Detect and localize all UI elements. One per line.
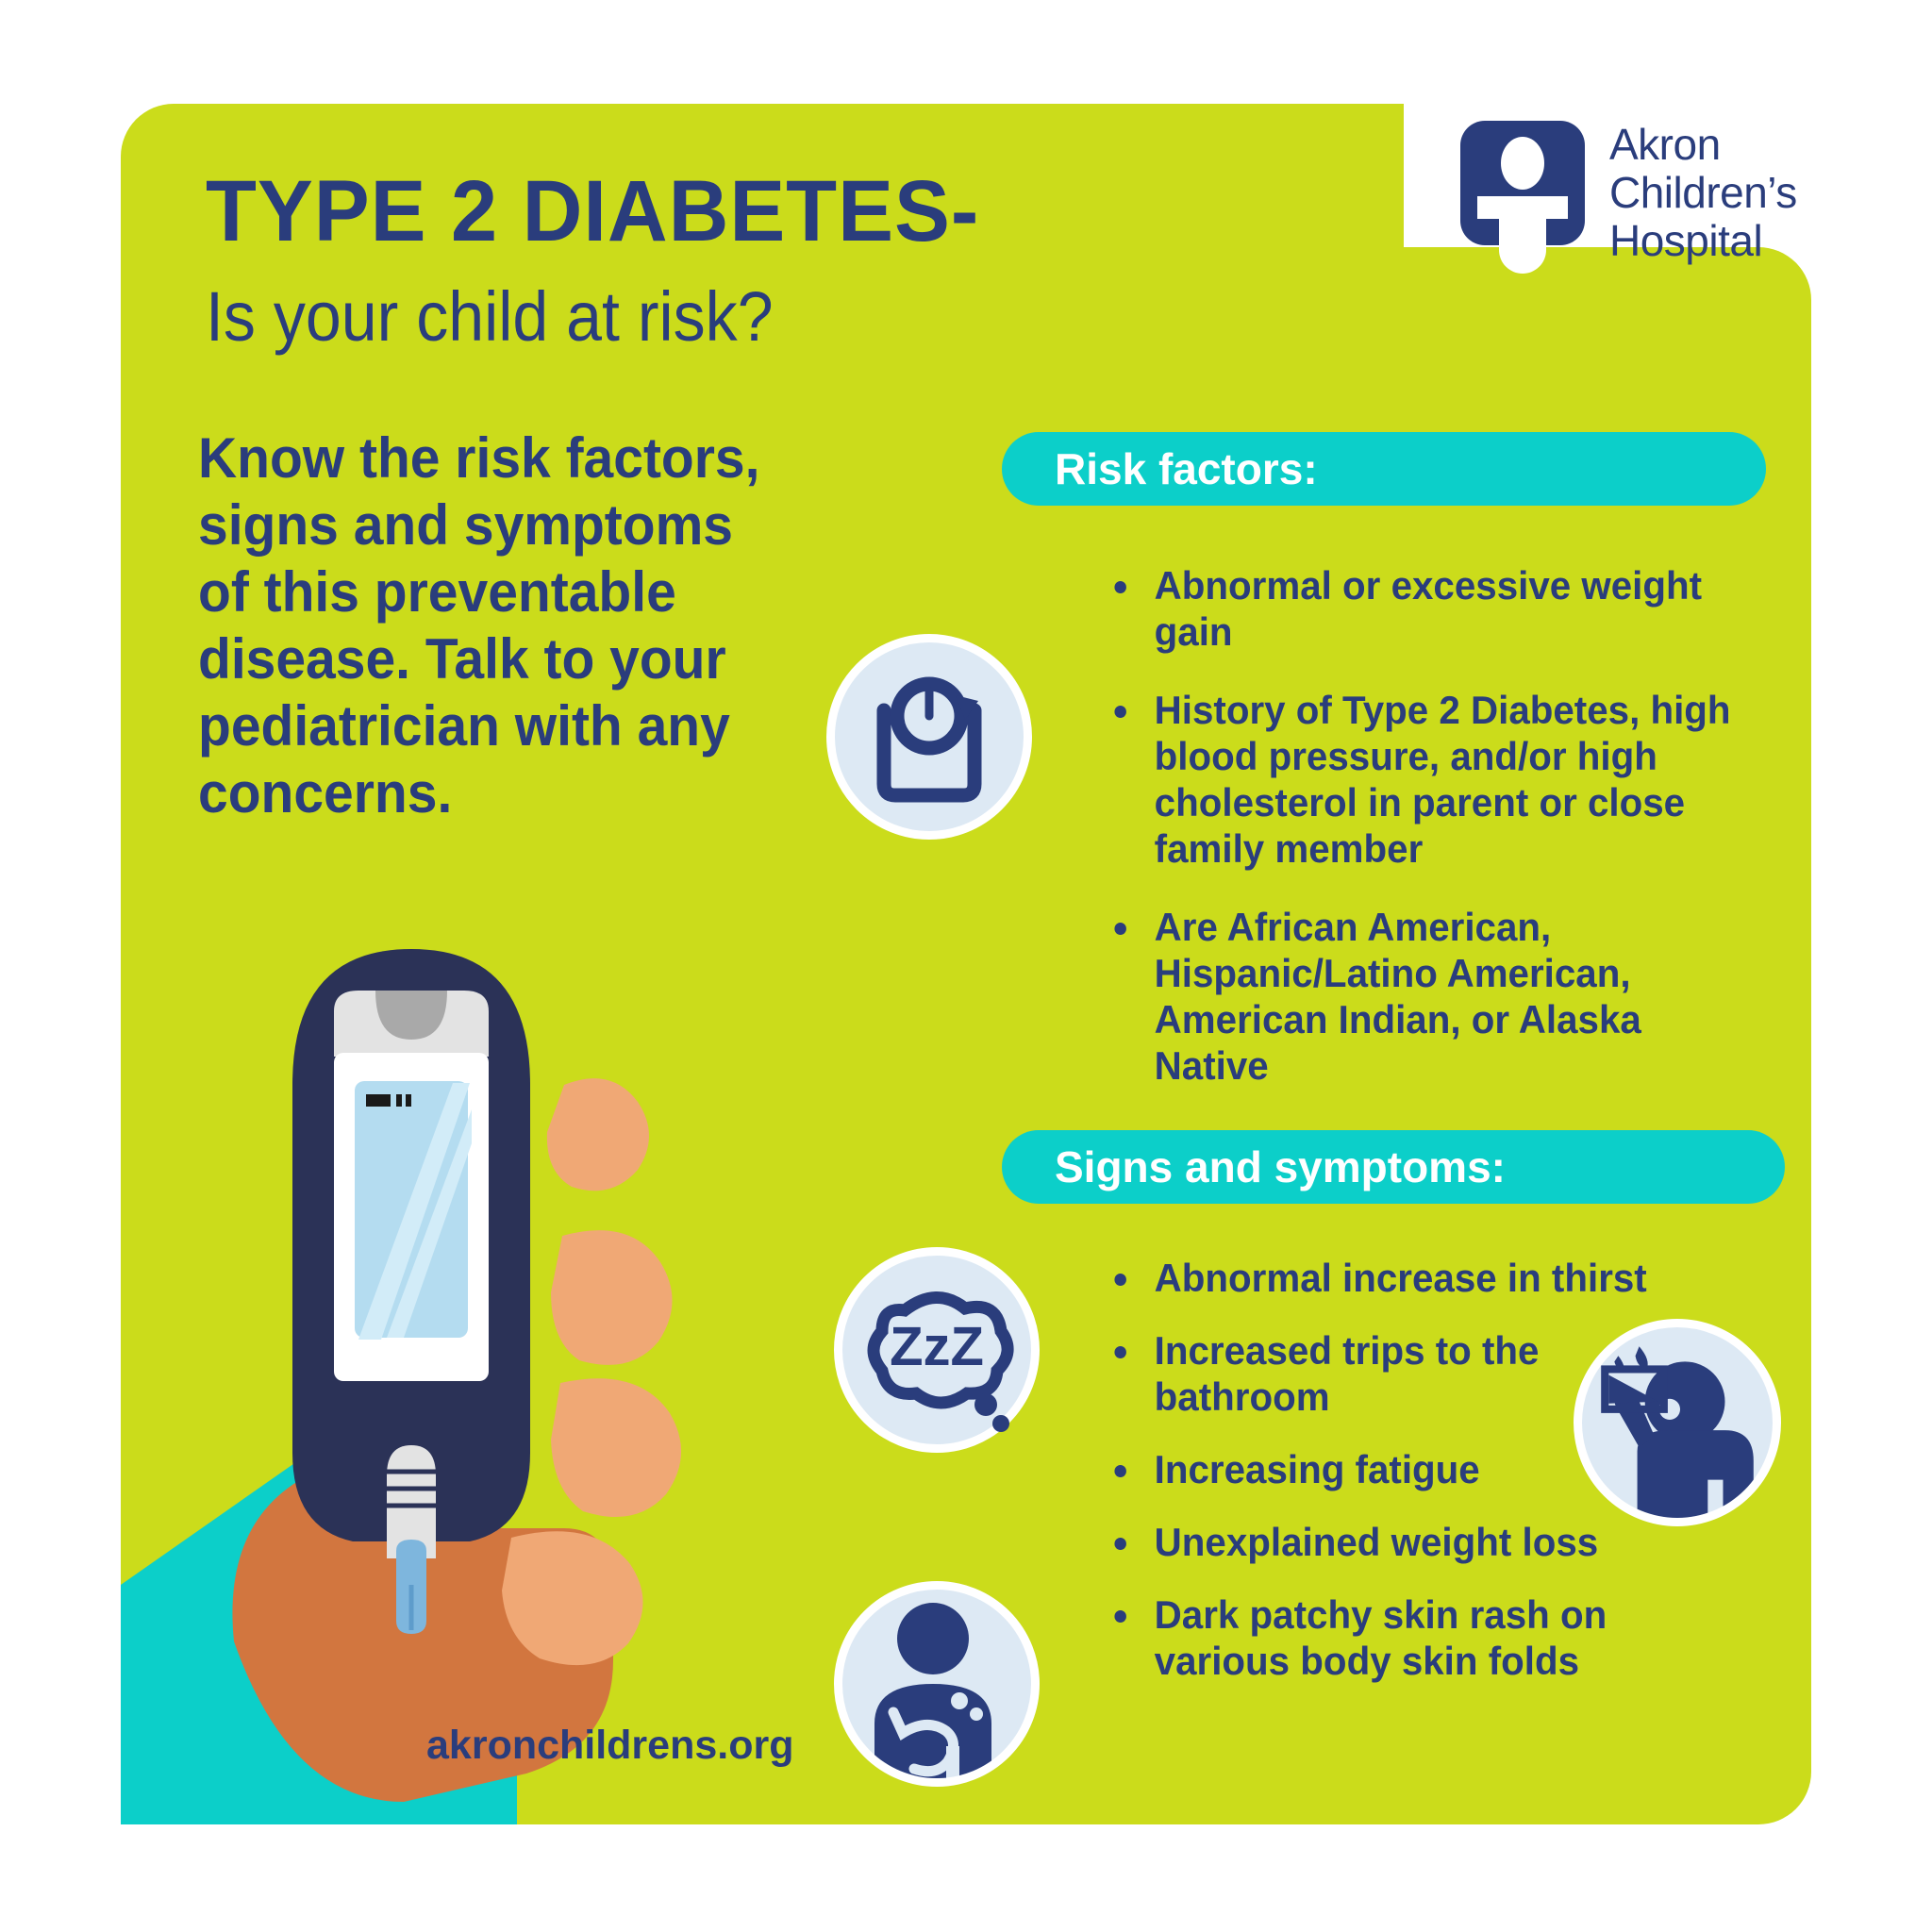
risk-factors-list: Abnormal or excessive weight gain Histor… — [1102, 562, 1762, 1121]
logo-line-3: Hospital — [1609, 217, 1797, 265]
signal-bar-2 — [406, 1094, 411, 1107]
weight-scale-icon — [826, 634, 1032, 840]
logo-wordmark: Akron Children’s Hospital — [1609, 121, 1797, 265]
signs-symptoms-banner: Signs and symptoms: — [1002, 1130, 1785, 1204]
list-item: History of Type 2 Diabetes, high blood p… — [1102, 687, 1736, 872]
list-item: Dark patchy skin rash on various body sk… — [1102, 1591, 1718, 1684]
logo-figure-head — [1501, 137, 1544, 190]
website-url[interactable]: akronchildrens.org — [426, 1723, 793, 1769]
akron-childrens-logo-icon — [1460, 121, 1585, 245]
list-item: Abnormal or excessive weight gain — [1102, 562, 1736, 655]
drinking-person-icon — [1574, 1319, 1781, 1526]
list-item: Are African American, Hispanic/Latino Am… — [1102, 904, 1736, 1089]
logo-line-2: Children’s — [1609, 169, 1797, 217]
skin-rash-icon — [834, 1581, 1040, 1787]
risk-factors-banner: Risk factors: — [1002, 432, 1766, 506]
signs-symptoms-banner-label: Signs and symptoms: — [1055, 1141, 1506, 1192]
finger-2 — [551, 1230, 673, 1365]
page-title: TYPE 2 DIABETES- — [206, 168, 979, 255]
page-subtitle: Is your child at risk? — [206, 279, 774, 355]
glucose-meter-in-hand-illustration — [121, 924, 838, 1824]
battery-icon — [366, 1094, 391, 1107]
finger-3 — [551, 1378, 681, 1517]
infographic-poster: TYPE 2 DIABETES- Is your child at risk? … — [0, 0, 1932, 1932]
signal-bar-1 — [396, 1094, 402, 1107]
finger-1 — [547, 1078, 649, 1191]
risk-factors-banner-label: Risk factors: — [1055, 443, 1318, 494]
svg-text:ZzZ: ZzZ — [890, 1316, 984, 1377]
sleep-zzz-icon: ZzZ — [834, 1247, 1040, 1453]
list-item: Unexplained weight loss — [1102, 1519, 1718, 1565]
hospital-logo: Akron Children’s Hospital — [1460, 121, 1797, 265]
logo-line-1: Akron — [1609, 121, 1797, 169]
list-item: Abnormal increase in thirst — [1102, 1255, 1718, 1301]
logo-figure-body — [1499, 215, 1546, 274]
intro-paragraph: Know the risk factors, signs and symptom… — [198, 425, 790, 826]
